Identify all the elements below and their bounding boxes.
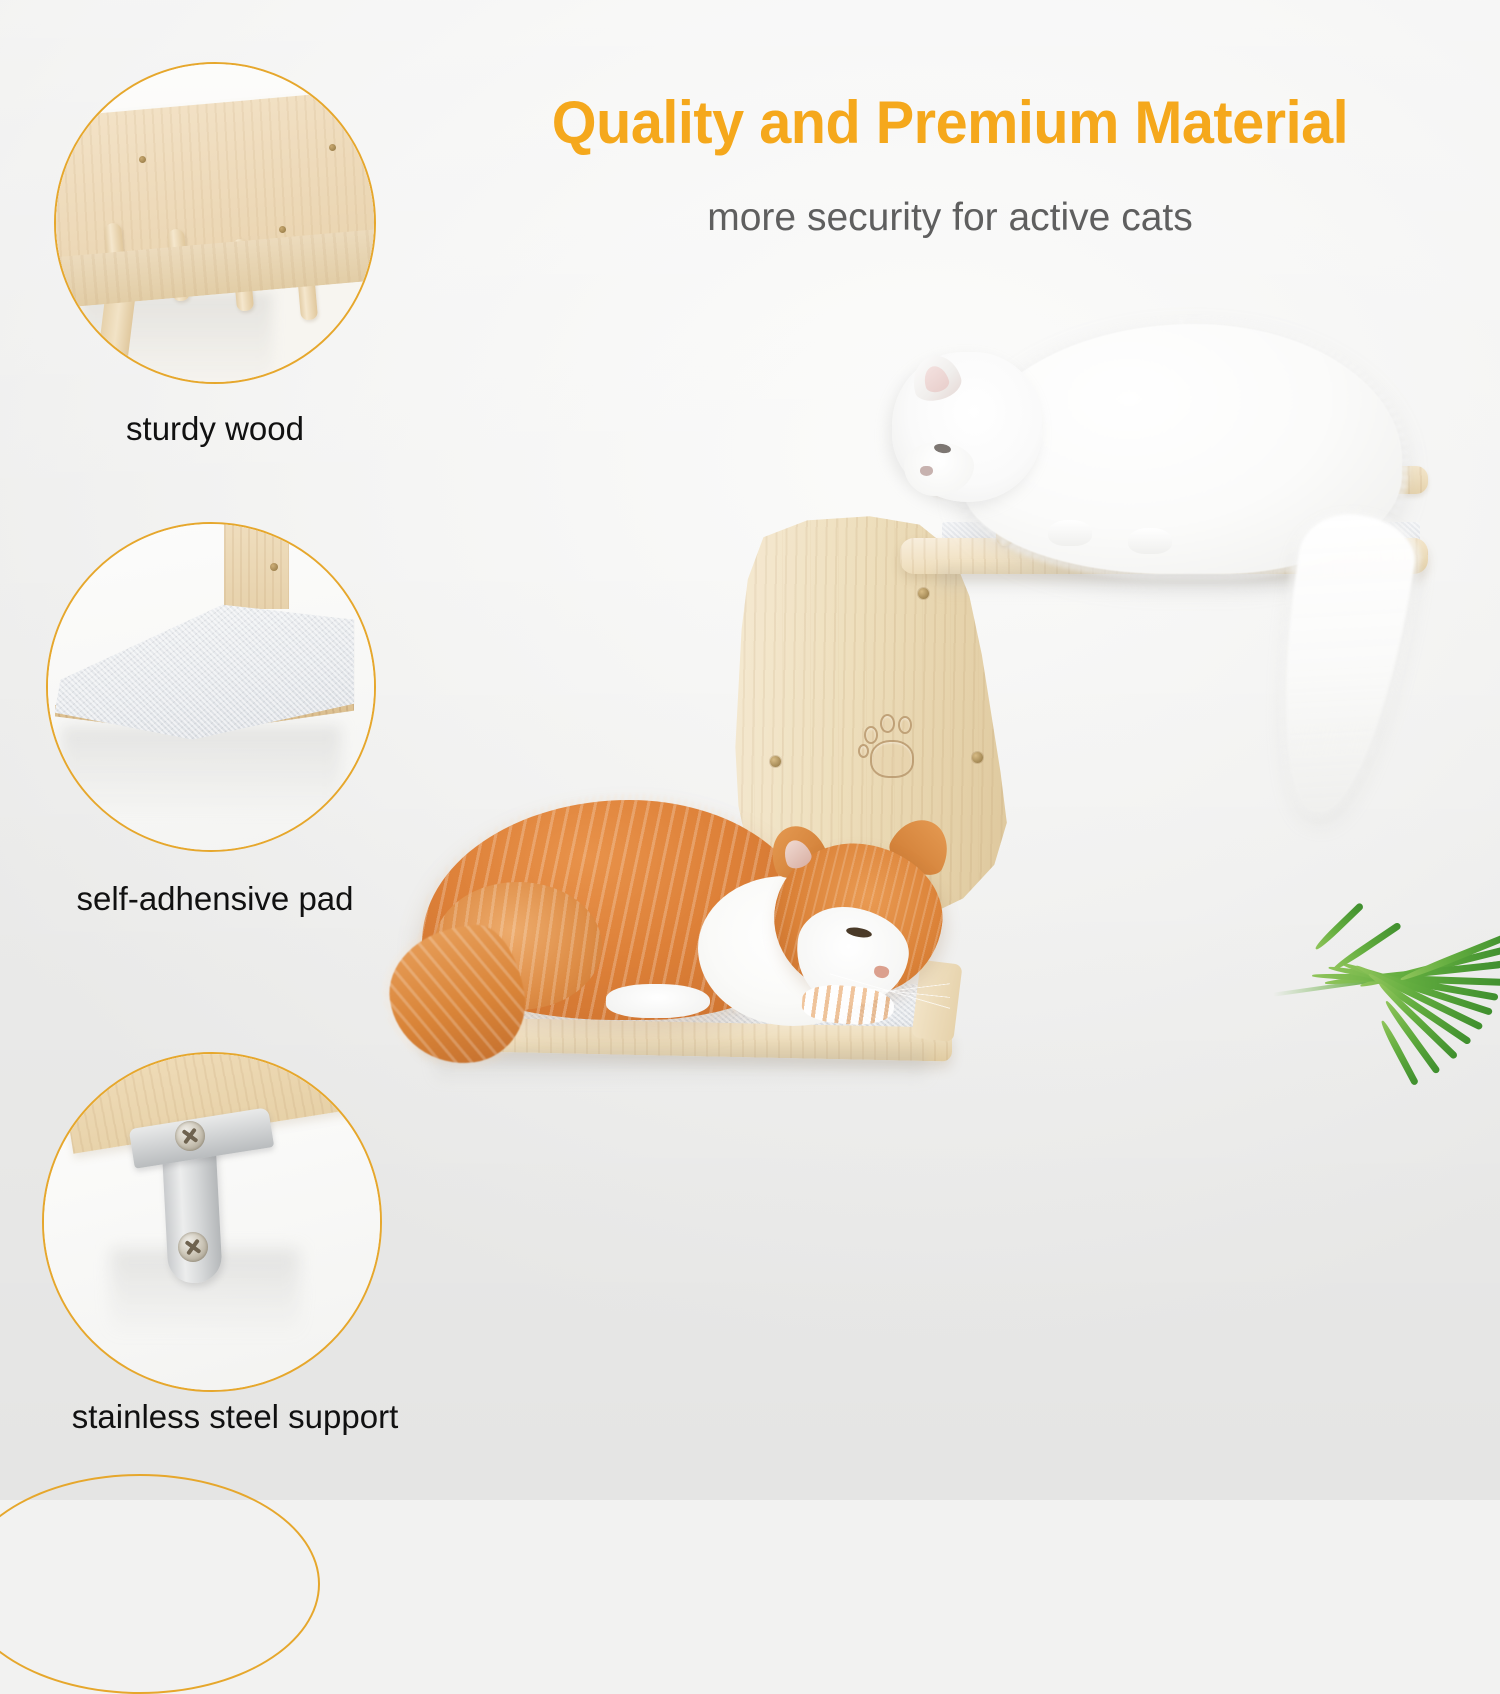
palm-plant xyxy=(1272,876,1500,1126)
header: Quality and Premium Material more securi… xyxy=(0,0,1500,270)
orange-cat-rear-paw xyxy=(606,984,710,1018)
callout-circle-self-adhensive-pad xyxy=(46,522,376,852)
paw-main-pad xyxy=(870,740,914,778)
white-cat-nose xyxy=(920,466,933,476)
paw-toe-4 xyxy=(858,744,869,758)
panel-screw-right xyxy=(972,752,983,763)
white-cat-paw-rear xyxy=(1128,528,1172,554)
palm-leaf xyxy=(1379,1019,1419,1086)
callout-label-stainless-steel-support: stainless steel support xyxy=(0,1398,470,1436)
stainless-steel-support-photo xyxy=(44,1054,380,1390)
photo-shadow xyxy=(61,726,341,817)
panel-screw-left xyxy=(770,756,781,767)
palm-frond xyxy=(1272,876,1500,1126)
white-cat xyxy=(852,314,1452,614)
callout-label-sturdy-wood: sturdy wood xyxy=(0,410,430,448)
page-title: Quality and Premium Material xyxy=(480,88,1421,157)
paw-toe-3 xyxy=(898,716,912,734)
page-subtitle: more security for active cats xyxy=(460,196,1440,240)
callout-circle-partial-bottom xyxy=(0,1474,320,1694)
callout-circle-stainless-steel-support xyxy=(42,1052,382,1392)
white-cat-paw-front xyxy=(1048,520,1092,546)
paw-toe-2 xyxy=(880,714,895,733)
callout-label-self-adhensive-pad: self-adhensive pad xyxy=(0,880,430,918)
post-screw xyxy=(270,563,278,571)
paw-print-icon xyxy=(858,712,928,784)
paw-toe-1 xyxy=(864,726,878,744)
self-adhensive-pad-photo xyxy=(48,524,374,850)
palm-leaf xyxy=(1332,922,1402,973)
palm-leaf xyxy=(1314,902,1365,951)
orange-tabby-cat xyxy=(398,790,978,1110)
wood-upright-post xyxy=(224,522,289,609)
